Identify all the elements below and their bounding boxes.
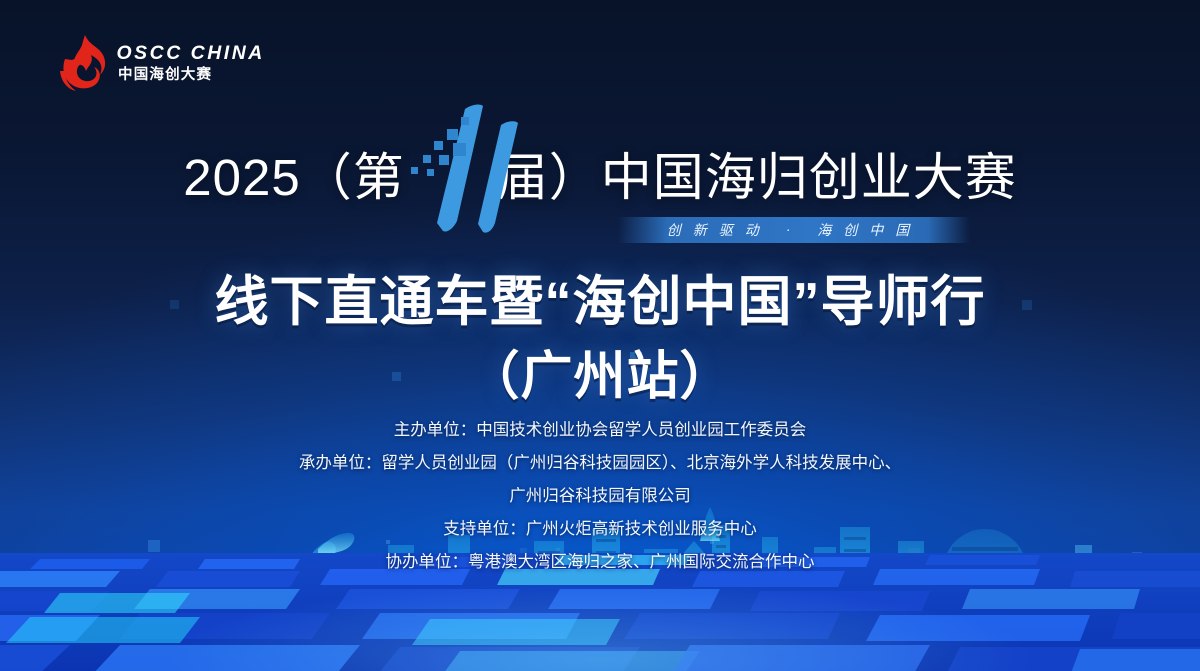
slogan-bar: 创新驱动 · 海创中国: [618, 217, 970, 243]
credit-line-organizer-2: 广州归谷科技园有限公司: [0, 480, 1200, 513]
credit-line-support: 支持单位：广州火炬高新技术创业服务中心: [0, 513, 1200, 546]
organizer-credits: 主办单位：中国技术创业协会留学人员创业园工作委员会 承办单位：留学人员创业园（广…: [0, 414, 1200, 579]
credit-line-organizer-1: 承办单位：留学人员创业园（广州归谷科技园园区）、北京海外学人科技发展中心、: [0, 447, 1200, 480]
competition-title: 2025（第届）中国海归创业大赛: [183, 136, 1017, 210]
poster-canvas: OSCC CHINA 中国海创大赛 2025（第届）中国海归创业大赛: [0, 0, 1200, 671]
event-headline-line2: （广州站）: [0, 334, 1200, 409]
logo-cn-text: 中国海创大赛: [118, 68, 263, 83]
flame-torch-icon: [58, 33, 112, 93]
event-headline-line1: 线下直通车暨“海创中国”导师行: [0, 257, 1200, 336]
oscc-china-logo[interactable]: OSCC CHINA 中国海创大赛: [58, 33, 263, 93]
logo-en-text: OSCC CHINA: [117, 44, 265, 63]
title-suffix: 届）中国海归创业大赛: [497, 149, 1017, 206]
title-year: 2025: [183, 149, 300, 206]
credit-line-coorganizer: 协办单位：粤港澳大湾区海归之家、广州国际交流合作中心: [0, 546, 1200, 579]
title-prefix: （第: [301, 149, 405, 206]
title-block: 2025（第届）中国海归创业大赛: [0, 136, 1200, 210]
credit-line-host: 主办单位：中国技术创业协会留学人员创业园工作委员会: [0, 414, 1200, 447]
